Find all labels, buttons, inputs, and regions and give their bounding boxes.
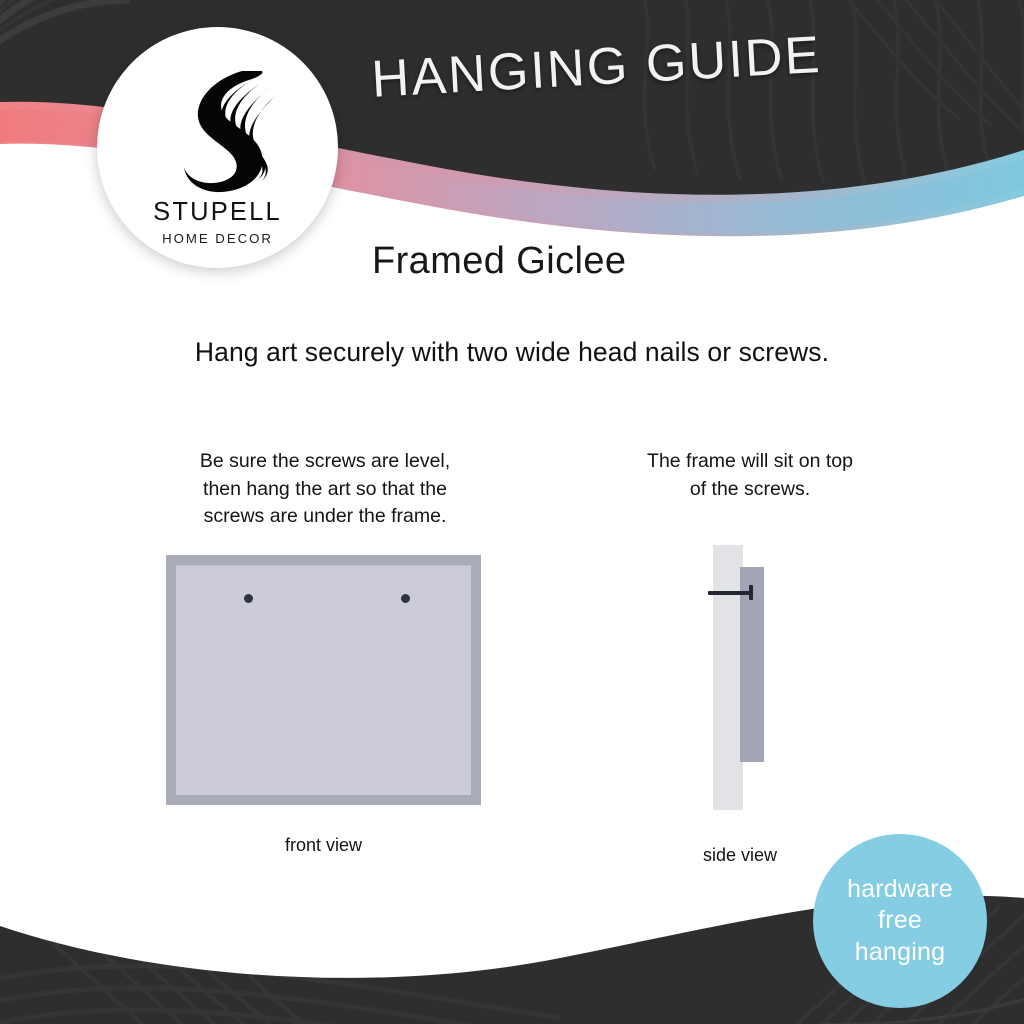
badge-line-2: free bbox=[878, 905, 922, 937]
front-caption-line-2: then hang the art so that the bbox=[155, 476, 495, 504]
badge-line-1: hardware bbox=[847, 874, 953, 906]
product-subtitle: Framed Giclee bbox=[372, 240, 626, 283]
side-view-diagram bbox=[700, 545, 780, 810]
nail-shaft-icon bbox=[708, 591, 753, 595]
screw-dot-right-icon bbox=[401, 594, 410, 603]
logo-wordmark: STUPELL HOME DECOR bbox=[97, 199, 338, 246]
main-instruction-text: Hang art securely with two wide head nai… bbox=[0, 337, 1024, 368]
side-view-wall bbox=[713, 545, 743, 810]
logo-badge: STUPELL HOME DECOR bbox=[97, 27, 338, 268]
nail-head-icon bbox=[749, 585, 753, 600]
front-caption-line-1: Be sure the screws are level, bbox=[155, 448, 495, 476]
brand-tagline: HOME DECOR bbox=[97, 231, 338, 246]
front-view-diagram bbox=[166, 555, 481, 805]
front-view-label: front view bbox=[166, 835, 481, 856]
front-caption-line-3: screws are under the frame. bbox=[155, 503, 495, 531]
front-view-mat bbox=[176, 565, 471, 795]
side-caption-line-1: The frame will sit on top bbox=[600, 448, 900, 476]
page-title: HANGING GUIDE bbox=[370, 21, 893, 110]
front-view-caption: Be sure the screws are level, then hang … bbox=[155, 448, 495, 531]
screw-dot-left-icon bbox=[244, 594, 253, 603]
side-caption-line-2: of the screws. bbox=[600, 476, 900, 504]
hanging-guide-page: STUPELL HOME DECOR HANGING GUIDE Framed … bbox=[0, 0, 1024, 1024]
badge-line-3: hanging bbox=[855, 937, 945, 969]
side-view-caption: The frame will sit on top of the screws. bbox=[600, 448, 900, 503]
stupell-swoosh-logo-icon bbox=[156, 63, 280, 195]
hardware-free-hanging-badge: hardware free hanging bbox=[813, 834, 987, 1008]
side-view-label: side view bbox=[660, 845, 820, 866]
brand-name: STUPELL bbox=[97, 199, 338, 226]
